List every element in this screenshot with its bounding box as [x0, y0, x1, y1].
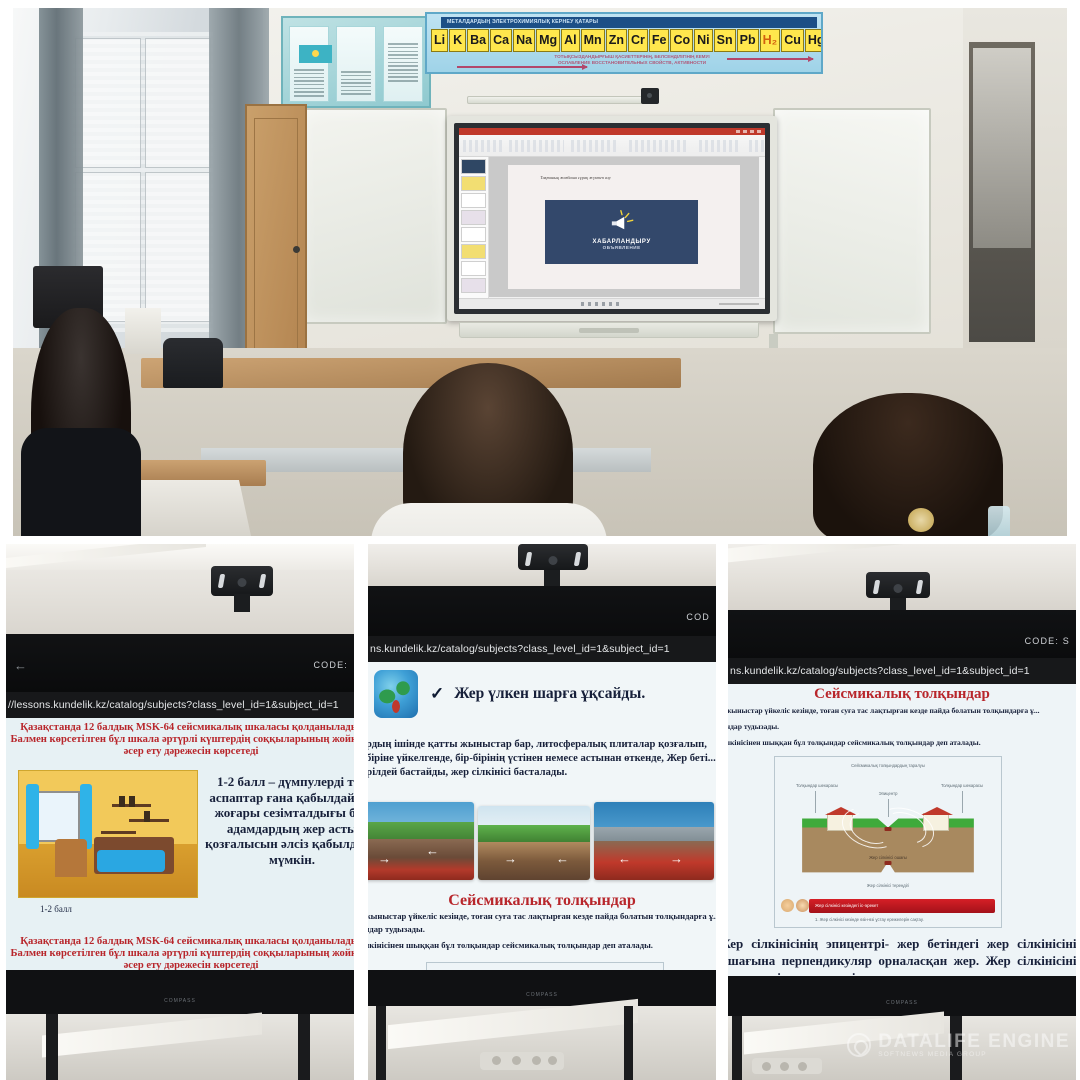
camera-lens-icon [894, 584, 903, 593]
diagram-label-bottom: Жер сілкінісі тереңдігі [843, 883, 933, 888]
ceiling [728, 544, 1076, 610]
ceiling [6, 544, 354, 640]
screen-bottom-bezel: COMPASS [6, 970, 354, 1014]
element-cell: Fe [649, 29, 670, 52]
stand-leg [732, 1016, 742, 1080]
section-body-1: ...жыныстар үйкеліс кезінде, тоған суға … [368, 910, 716, 936]
pen-tray [459, 322, 759, 338]
camera-icon [866, 572, 930, 598]
camera-mount [234, 594, 250, 612]
ceiling-light [728, 544, 908, 565]
check-icon: ✓ [430, 684, 444, 704]
section-body-2: ...лкінісінен шыққан бұл толқындар сейсм… [368, 939, 716, 952]
stand-leg [298, 1014, 310, 1080]
screen-top-bar: ← CODE: [6, 634, 354, 692]
diagram-label-center: Эпицентр [860, 791, 916, 796]
whiteboard-assembly: Тақтаның жазбаша сұрақ жүктеп алу [299, 108, 929, 338]
element-cell: Al [561, 29, 580, 52]
student-center [403, 363, 573, 536]
arrow-right-icon [727, 58, 813, 60]
plate-diagram-collision: → ← [478, 806, 590, 880]
screen-bezel: Тақтаның жазбаша сұрақ жүктеп алу [454, 123, 770, 314]
code-label: COD [686, 612, 710, 622]
section-body-1: ...жыныстар үйкеліс кезінде, тоған суға … [728, 706, 1076, 717]
poster-text-lines [294, 67, 324, 99]
powerpoint-window[interactable]: Тақтаның жазбаша сұрақ жүктеп алу [459, 128, 765, 309]
stand-leg [624, 1006, 633, 1080]
task-banner: Жер сілкінісі кезіндегі іс-әрекет [809, 899, 995, 913]
interactive-whiteboard[interactable]: Тақтаның жазбаша сұрақ жүктеп алу [447, 116, 777, 321]
browser-url-bar[interactable]: //lessons.kundelik.kz/catalog/subjects?c… [6, 692, 354, 718]
camera-icon [518, 544, 588, 570]
classroom-scene: МЕТАЛДАРДЫҢ ЭЛЕКТРОХИМИЯЛЫҚ КЕРНЕУ ҚАТАР… [13, 8, 1067, 536]
diagram-caption: Сейсмикалық толқындардың таралуы [813, 763, 963, 768]
slide-thumbnail[interactable] [461, 244, 486, 259]
zoom-slider[interactable] [719, 303, 759, 305]
panel-right-photo: CODE: S ns.kundelik.kz/catalog/subjects?… [728, 544, 1076, 1080]
slide-thumbnail[interactable] [461, 278, 486, 293]
floor-area [368, 1006, 716, 1080]
avatar [781, 899, 794, 912]
slide-heading: Қазақстанда 12 балдық MSK-64 сейсмикалық… [10, 722, 354, 758]
slide-thumbnail[interactable] [461, 193, 486, 208]
next-slide-heading: Қазақстанда 12 балдық MSK-64 сейсмикалық… [10, 936, 354, 972]
slide-body: ...рдың ішінде қатты жыныстар бар, литос… [368, 738, 716, 780]
slide-stage: Тақтаның жазбаша сұрақ жүктеп алу [489, 157, 759, 297]
screen[interactable]: Тақтаның жазбаша сұрақ жүктеп алу [459, 128, 765, 309]
poster-column [289, 26, 329, 102]
back-arrow-icon[interactable]: ← [14, 658, 27, 673]
window-pane [145, 38, 211, 168]
section-heading: Сейсмикалық толқындар [368, 892, 716, 910]
element-cell: Na [513, 29, 535, 52]
logo-text-ru: ОБЪЯВЛЕНИЕ [603, 245, 641, 250]
camera-lens-icon [549, 556, 558, 565]
camera-icon [641, 88, 659, 104]
diagram-label-focus: Жер сілкінісі ошағы [843, 855, 933, 860]
poster-column [336, 26, 376, 102]
electrochemical-series-banner: МЕТАЛДАРДЫҢ ЭЛЕКТРОХИМИЯЛЫҚ КЕРНЕУ ҚАТАР… [425, 12, 823, 74]
section-body-1b: ...ндар тудызады. [728, 722, 779, 731]
student-left [31, 308, 131, 536]
arrow-left-icon [457, 66, 587, 68]
element-cell: H₂ [760, 29, 781, 52]
stand-leg [46, 1014, 58, 1080]
window-pane [75, 38, 141, 168]
floor-area [6, 1014, 354, 1080]
element-row: LiKBaCaNaMgAlMnZnCrFeCoNiSnPbH₂CuHgAgPtA… [431, 29, 823, 52]
corridor-view [973, 48, 1031, 248]
poster-column [383, 26, 423, 102]
code-label: CODE: S [1025, 636, 1070, 646]
kazakhstan-flag-icon [299, 45, 332, 63]
screen-bottom-bezel: COMPASS [728, 976, 1076, 1016]
camera-icon [211, 566, 273, 596]
panel-left-photo: ← CODE: //lessons.kundelik.kz/catalog/su… [6, 544, 354, 1080]
element-cell: Mg [536, 29, 560, 52]
whiteboard-wing-right [773, 108, 931, 334]
element-cell: Hg [805, 29, 823, 52]
power-strip [752, 1058, 822, 1074]
power-strip [480, 1052, 564, 1070]
banner-subtitle: ТОТЫҚСЫЗДАНДЫРҒЫШ ҚАСИЕТТЕРІНІҢ, БЕЛСЕНД… [517, 54, 747, 65]
stand-leg [376, 1006, 386, 1080]
student-avatars [781, 899, 809, 912]
screen-bottom-bezel: COMPASS [368, 970, 716, 1006]
slide-body: 1-2 балл – дүмпулерді тек аспаптар ғана … [202, 774, 354, 868]
plate-diagram-convergent: → ← [368, 802, 474, 880]
url-text: //lessons.kundelik.kz/catalog/subjects?c… [6, 699, 339, 711]
ceiling [368, 544, 716, 588]
task-banner-text: Жер сілкінісі кезіндегі іс-әрекет [809, 899, 995, 908]
url-text: ns.kundelik.kz/catalog/subjects?class_le… [728, 665, 1030, 677]
element-cell: Li [431, 29, 448, 52]
browser-url-bar[interactable]: ns.kundelik.kz/catalog/subjects?class_le… [728, 658, 1076, 684]
diagram-label-left: Толқындар шекарасы [787, 783, 847, 788]
top-classroom-photo: МЕТАЛДАРДЫҢ ЭЛЕКТРОХИМИЯЛЫҚ КЕРНЕУ ҚАТАР… [13, 8, 1067, 536]
whiteboard-wing-left [299, 108, 447, 324]
window-pane [145, 172, 211, 322]
announcement-logo: ХАБАРЛАНДЫРУ ОБЪЯВЛЕНИЕ [545, 200, 698, 264]
poster-text-lines [341, 69, 371, 97]
water-bottle [988, 506, 1010, 536]
watermark-subtitle: SOFTNEWS MEDIA GROUP [878, 1051, 1070, 1058]
photo-collage: МЕТАЛДАРДЫҢ ЭЛЕКТРОХИМИЯЛЫҚ КЕРНЕУ ҚАТАР… [0, 0, 1080, 1080]
section-heading: Сейсмикалық толқындар [728, 686, 1076, 703]
hair-accessory [908, 508, 934, 532]
slide-thumbnail[interactable] [461, 159, 486, 174]
plate-diagram-divergent: ← → [594, 802, 714, 880]
task-item: 1. Жер сілкінісі кезінде өзін-өзі ұстау … [815, 917, 995, 922]
sleeping-person-illustration [18, 770, 198, 898]
slide-thumbnail-panel[interactable] [459, 157, 489, 299]
floor-light-reflection [42, 1012, 262, 1057]
element-cell: Sn [714, 29, 736, 52]
floor-light-reflection [388, 999, 638, 1049]
element-cell: Ni [694, 29, 713, 52]
element-cell: Ba [467, 29, 489, 52]
globe-icon [374, 670, 418, 718]
code-label: CODE: [313, 660, 348, 670]
tv-brand-label: COMPASS [886, 1000, 918, 1006]
titlebar [459, 128, 765, 135]
statusbar[interactable] [459, 298, 765, 309]
slide-thumbnail[interactable] [461, 261, 486, 276]
bottom-photo-row: ← CODE: //lessons.kundelik.kz/catalog/su… [0, 544, 1080, 1080]
tv-brand-label: COMPASS [164, 998, 196, 1004]
site-watermark: DATALIFE ENGINE SOFTNEWS MEDIA GROUP [847, 1032, 1070, 1058]
camera-lens-icon [238, 578, 247, 587]
element-cell: Zn [606, 29, 627, 52]
ribbon-toolbar[interactable] [459, 135, 765, 157]
seismic-wave-diagram: Сейсмикалық толқындардың таралуы Толқынд… [774, 756, 1002, 928]
section-body-2: ...лкінісінен шыққан бұл толқындар сейсм… [728, 738, 1076, 747]
screen-top-bar: COD [368, 586, 716, 642]
banner-title: МЕТАЛДАРДЫҢ ЭЛЕКТРОХИМИЯЛЫҚ КЕРНЕУ ҚАТАР… [441, 17, 817, 28]
slide-bullet: Жер үлкен шарға ұқсайды. [454, 685, 645, 703]
projector-light-bar [467, 96, 657, 104]
browser-url-bar[interactable]: ns.kundelik.kz/catalog/subjects?class_le… [368, 636, 716, 662]
panel-middle-photo: COD ns.kundelik.kz/catalog/subjects?clas… [368, 544, 716, 1080]
tv-brand-label: COMPASS [526, 992, 558, 998]
presentation-slide: Сейсмикалық толқындар ...жыныстар үйкелі… [728, 684, 1076, 976]
focus-marker [885, 861, 892, 865]
presentation-slide: ✓ Жер үлкен шарға ұқсайды. ...рдың ішінд… [368, 662, 716, 972]
teacher-chair [163, 338, 223, 388]
presentation-slide: Қазақстанда 12 балдық MSK-64 сейсмикалық… [6, 718, 354, 972]
image-caption: 1-2 балл [40, 904, 72, 914]
element-cell: K [449, 29, 466, 52]
poster-text-lines [388, 41, 418, 84]
slide-thumbnail[interactable] [461, 176, 486, 191]
url-text: ns.kundelik.kz/catalog/subjects?class_le… [368, 643, 670, 655]
element-cell: Cr [628, 29, 648, 52]
diagram-label-right: Толқындар шекарасы [931, 783, 993, 788]
element-cell: Cu [781, 29, 804, 52]
datalife-logo-icon [847, 1033, 871, 1057]
current-slide: Тақтаның жазбаша сұрақ жүктеп алу [508, 165, 740, 288]
desktop-pc [125, 308, 161, 354]
kazakhstan-state-symbols-poster [281, 16, 431, 108]
element-cell: Pb [737, 29, 759, 52]
element-cell: Co [670, 29, 693, 52]
slide-body: Жер сілкінісінің эпицентрі- жер бетіндег… [728, 936, 1076, 976]
element-cell: Ca [490, 29, 512, 52]
element-cell: Mn [581, 29, 605, 52]
slide-thumbnail[interactable] [461, 227, 486, 242]
watermark-title: DATALIFE ENGINE [878, 1032, 1070, 1051]
illustration-window [33, 791, 79, 841]
slide-thumbnail[interactable] [461, 210, 486, 225]
slide-title: Тақтаның жазбаша сұрақ жүктеп алу [540, 175, 679, 181]
megaphone-icon [591, 209, 652, 237]
avatar [796, 899, 809, 912]
